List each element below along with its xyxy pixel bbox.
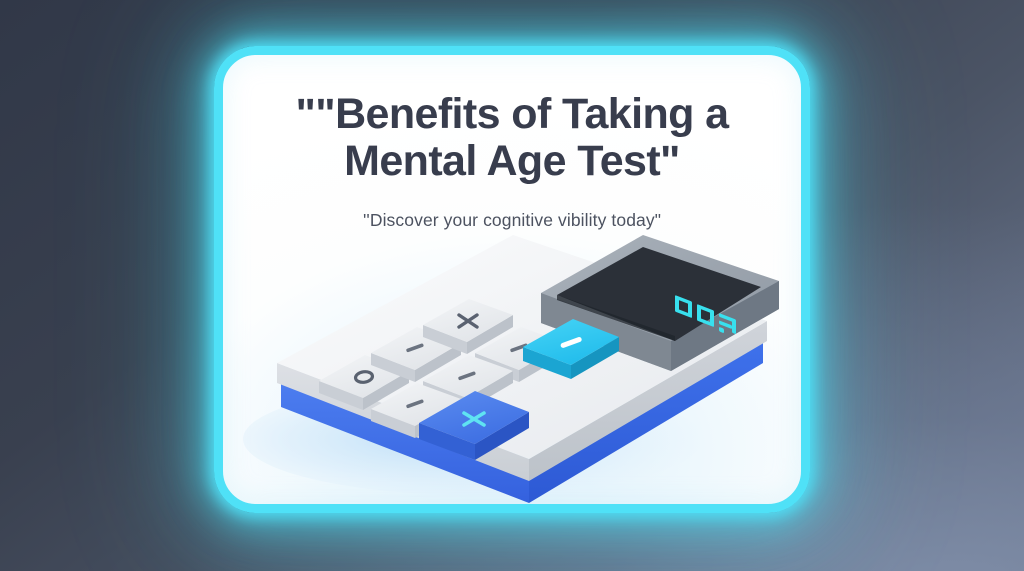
calculator-illustration [223,231,810,511]
content-card: ""Benefits of Taking a Mental Age Test" … [214,46,810,513]
page-title: ""Benefits of Taking a Mental Age Test" [223,91,801,185]
poster-scene: ""Benefits of Taking a Mental Age Test" … [0,0,1024,571]
text-block: ""Benefits of Taking a Mental Age Test" … [223,91,801,231]
page-subtitle: ''Discover your cognitive vibility today… [223,209,801,231]
